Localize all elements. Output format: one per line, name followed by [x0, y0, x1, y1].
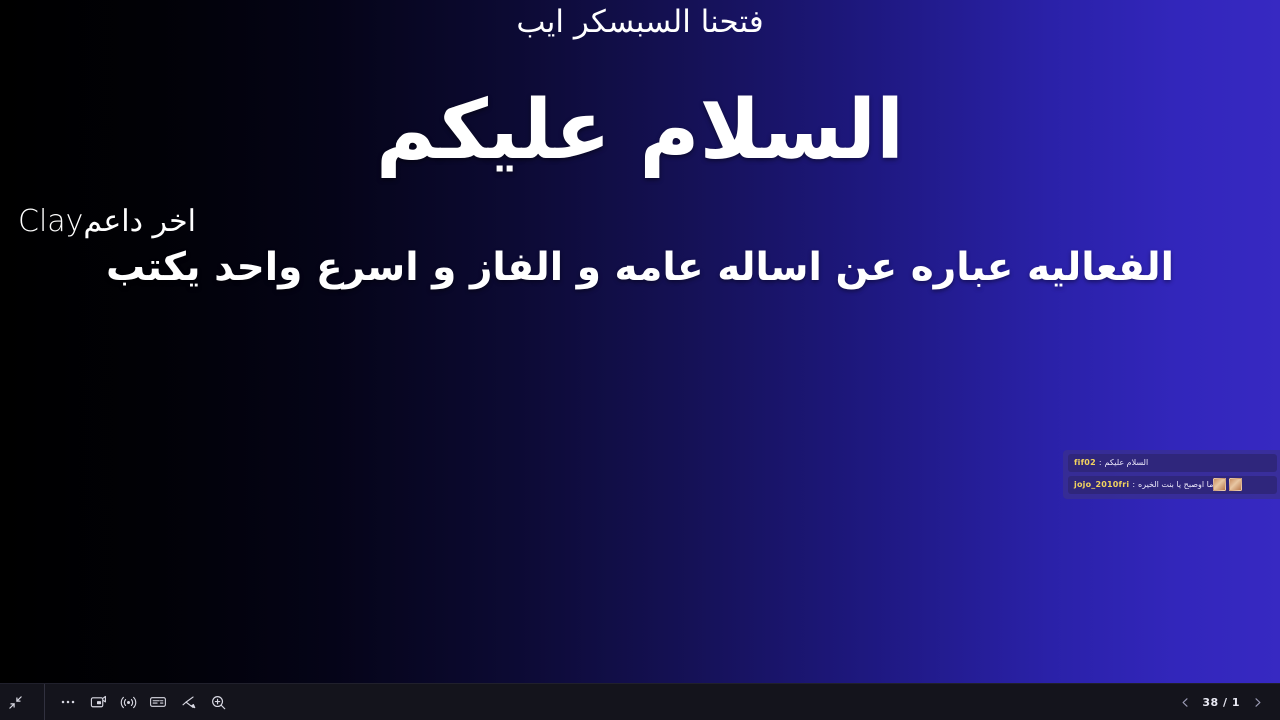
control-bar: 38 / 1	[0, 683, 1280, 720]
emote-icon	[1229, 478, 1242, 491]
stream-stage: فتحنا السبسكر ايب السلام عليكم اخر داعمC…	[0, 0, 1280, 720]
captions-icon[interactable]	[143, 684, 173, 720]
chat-message: fif02 : السلام عليكم	[1068, 454, 1277, 472]
chat-message: jojo_2010fri : ما اوصبح يا بنت الخيره	[1068, 476, 1277, 494]
chevron-left-icon[interactable]	[1174, 684, 1196, 720]
emote-icon	[1213, 478, 1226, 491]
headline-main: السلام عليكم	[0, 76, 1280, 186]
collapse-arrows-icon[interactable]	[0, 684, 30, 720]
chat-emotes	[1213, 478, 1247, 491]
broadcast-live-icon[interactable]	[113, 684, 143, 720]
chevron-right-icon[interactable]	[1246, 684, 1268, 720]
chat-separator: :	[1096, 458, 1105, 467]
chat-text: ما اوصبح يا بنت الخيره	[1138, 480, 1213, 489]
last-supporter-label: اخر داعم	[83, 204, 196, 239]
control-bar-left	[0, 684, 233, 720]
picture-in-picture-icon[interactable]	[83, 684, 113, 720]
toolbar-divider	[44, 684, 45, 720]
chat-overlay[interactable]: fif02 : السلام عليكم jojo_2010fri : ما ا…	[1063, 450, 1280, 499]
chat-separator: :	[1129, 480, 1138, 489]
chat-text: السلام عليكم	[1105, 458, 1149, 467]
zoom-in-icon[interactable]	[203, 684, 233, 720]
chat-username[interactable]: jojo_2010fri	[1074, 480, 1129, 489]
share-icon[interactable]	[173, 684, 203, 720]
last-supporter-name: Clay	[18, 203, 83, 241]
more-options-icon[interactable]	[53, 684, 83, 720]
subtitle-top: فتحنا السبسكر ايب	[0, 2, 1280, 42]
last-supporter: اخر داعمClay	[18, 203, 196, 241]
headline-sub: الفعاليه عباره عن اساله عامه و الفاز و ا…	[0, 240, 1280, 296]
page-indicator: 38 / 1	[1196, 696, 1246, 709]
control-bar-right: 38 / 1	[1174, 684, 1280, 720]
chat-username[interactable]: fif02	[1074, 458, 1096, 467]
overlay-text-layer: فتحنا السبسكر ايب السلام عليكم اخر داعمC…	[0, 0, 1280, 683]
